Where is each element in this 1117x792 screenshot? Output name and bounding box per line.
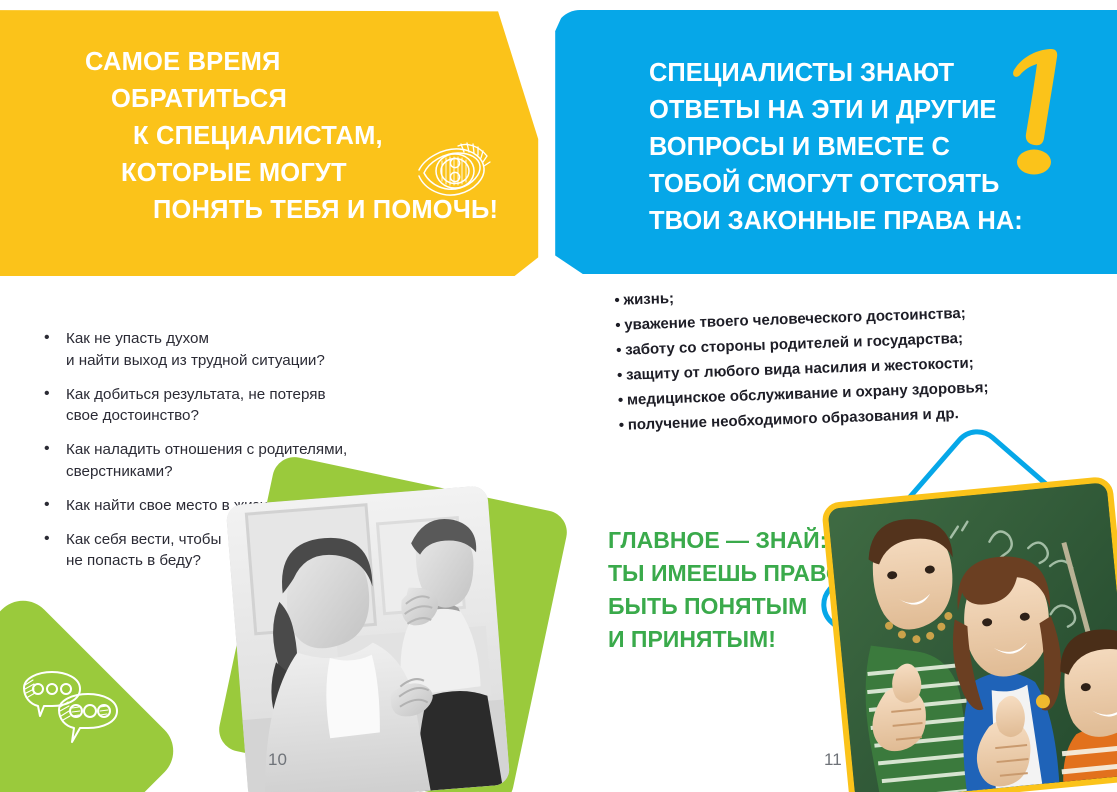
rights-list: •жизнь; •уважение твоего человеческого д… <box>614 273 1059 438</box>
page-number-left: 10 <box>268 750 287 770</box>
exclamation-mark-icon <box>1000 48 1066 178</box>
bullet-marker: • <box>44 327 50 349</box>
speech-bubbles-icon <box>14 668 126 750</box>
question-line: Как наладить отношения с родителями, <box>66 439 428 461</box>
left-photo-woman-and-boy <box>226 485 511 792</box>
eye-icon <box>415 132 493 204</box>
question-line: Как не упасть духом <box>66 328 428 350</box>
left-photo-illustration <box>226 485 511 792</box>
bullet-marker: • <box>44 528 50 550</box>
blue-line-5: ТВОИ ЗАКОННЫЕ ПРАВА НА: <box>649 203 1069 240</box>
yellow-line-1: САМОЕ ВРЕМЯ <box>85 44 525 81</box>
bullet-marker: • <box>44 494 50 516</box>
question-line: Как добиться результата, не потеряв <box>66 384 428 406</box>
right-photo-illustration <box>828 481 1117 792</box>
right-text: жизнь; <box>623 290 674 309</box>
list-item: • Как не упасть духом и найти выход из т… <box>38 328 428 371</box>
page-number-right: 11 <box>824 750 842 770</box>
question-line: и найти выход из трудной ситуации? <box>66 350 428 372</box>
list-item: • Как добиться результата, не потеряв св… <box>38 384 428 427</box>
bullet-marker: • <box>44 383 50 405</box>
spread-page: САМОЕ ВРЕМЯ ОБРАТИТЬСЯ К СПЕЦИАЛИСТАМ, К… <box>0 0 1117 792</box>
question-line: свое достоинство? <box>66 405 428 427</box>
yellow-line-2: ОБРАТИТЬСЯ <box>85 81 525 118</box>
bullet-marker: • <box>44 438 50 460</box>
right-photo-kids-thumbs-up <box>821 476 1117 792</box>
